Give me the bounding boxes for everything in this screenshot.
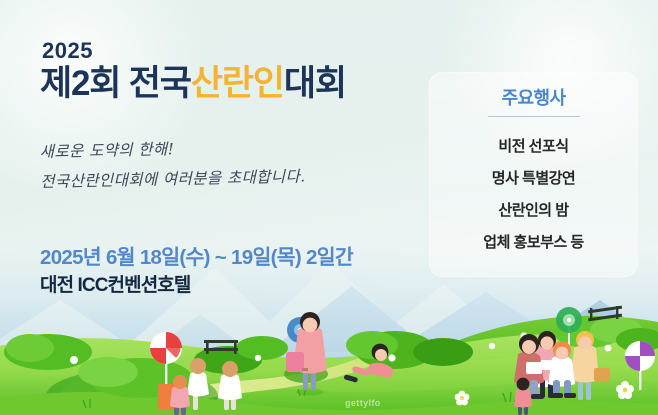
main-events-title: 주요행사 [502,88,566,114]
list-item: 비전 선포식 [429,130,638,162]
title-underline [488,116,580,118]
dateline-block: 2025년 6월 18일(수) ~ 19일(목) 2일간 대전 ICC컨벤션호텔 [40,245,353,298]
main-events-card: 주요행사 비전 선포식 명사 특별강연 산란인의 밤 업체 홍보부스 등 [429,72,638,277]
event-venue: 대전 ICC컨벤션호텔 [40,274,353,299]
hero-text-block: 2025 제2회 전국산란인대회 새로운 도약의 한해! 전국산란인대회에 여러… [40,40,410,197]
title-accent: 산란인 [191,64,284,103]
main-events-list: 비전 선포식 명사 특별강연 산란인의 밤 업체 홍보부스 등 [429,130,638,258]
watermark-text: gettylfo [345,398,381,408]
list-item: 명사 특별강연 [429,162,638,194]
page-title: 제2회 전국산란인대회 [40,66,410,103]
event-date: 2025년 6월 18일(수) ~ 19일(목) 2일간 [40,245,353,271]
list-item: 산란인의 밤 [429,194,638,226]
title-part-2: 대회 [284,64,346,103]
title-part-1: 제2회 전국 [40,64,191,103]
year-label: 2025 [42,40,410,62]
list-item: 업체 홍보부스 등 [429,226,638,258]
event-poster: 2025 제2회 전국산란인대회 새로운 도약의 한해! 전국산란인대회에 여러… [0,0,658,415]
invitation-script: 새로운 도약의 한해! 전국산란인대회에 여러분을 초대합니다. [39,129,410,197]
